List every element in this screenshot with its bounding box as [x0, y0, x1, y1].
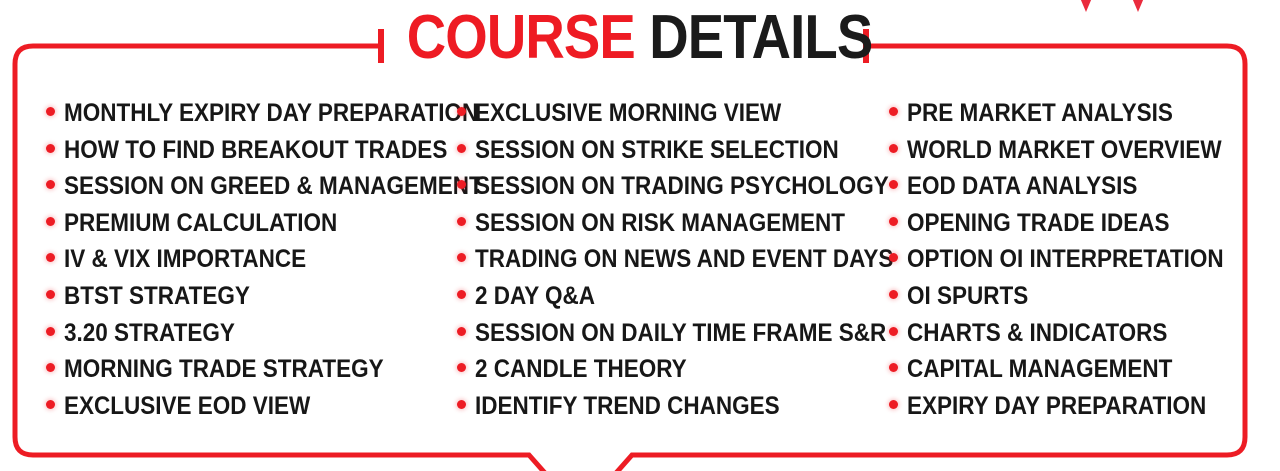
- list-item: OPENING TRADE IDEAS: [889, 209, 1280, 246]
- list-item-label: EXCLUSIVE EOD VIEW: [64, 392, 310, 421]
- list-item-label: SESSION ON RISK MANAGEMENT: [475, 209, 845, 238]
- list-item-label: EOD DATA ANALYSIS: [907, 172, 1137, 201]
- bullet-icon: [457, 400, 466, 409]
- course-details-columns: MONTHLY EXPIRY DAY PREPARATION HOW TO FI…: [0, 99, 1280, 439]
- list-item: OPTION OI INTERPRETATION: [889, 245, 1280, 282]
- page-title-word-black-text: DETAILS: [650, 3, 873, 72]
- bullet-icon: [457, 363, 466, 372]
- bullet-icon: [889, 363, 898, 372]
- column-1: MONTHLY EXPIRY DAY PREPARATION HOW TO FI…: [0, 99, 446, 428]
- bullet-icon: [46, 180, 55, 189]
- list-item-label: 3.20 STRATEGY: [64, 319, 235, 348]
- bullet-icon: [457, 180, 466, 189]
- list-item-label: OPTION OI INTERPRETATION: [907, 245, 1224, 274]
- bullet-icon: [46, 107, 55, 116]
- list-item-label: OI SPURTS: [907, 282, 1028, 311]
- page-title-word-black: [635, 3, 649, 72]
- list-item-label: 2 CANDLE THEORY: [475, 355, 687, 384]
- list-item: EXCLUSIVE MORNING VIEW: [457, 99, 882, 136]
- list-item: SESSION ON GREED & MANAGEMENT: [46, 172, 446, 209]
- list-item: PREMIUM CALCULATION: [46, 209, 446, 246]
- bullet-icon: [889, 327, 898, 336]
- bullet-icon: [457, 144, 466, 153]
- list-item: CHARTS & INDICATORS: [889, 319, 1280, 356]
- list-item-label: MONTHLY EXPIRY DAY PREPARATION: [64, 99, 478, 128]
- bullet-icon: [46, 290, 55, 299]
- list-item: 2 CANDLE THEORY: [457, 355, 882, 392]
- list-item: WORLD MARKET OVERVIEW: [889, 136, 1280, 173]
- list-item-label: WORLD MARKET OVERVIEW: [907, 136, 1222, 165]
- bullet-icon: [46, 144, 55, 153]
- list-item-label: SESSION ON STRIKE SELECTION: [475, 136, 839, 165]
- list-item-label: HOW TO FIND BREAKOUT TRADES: [64, 136, 447, 165]
- list-item-label: PRE MARKET ANALYSIS: [907, 99, 1173, 128]
- bullet-icon: [889, 107, 898, 116]
- list-item-label: SESSION ON DAILY TIME FRAME S&R: [475, 319, 886, 348]
- page-title-word-red: COURSE: [407, 3, 635, 72]
- list-item-label: SESSION ON TRADING PSYCHOLOGY: [475, 172, 889, 201]
- list-item: OI SPURTS: [889, 282, 1280, 319]
- list-item: EXCLUSIVE EOD VIEW: [46, 392, 446, 429]
- list-item-label: IV & VIX IMPORTANCE: [64, 245, 306, 274]
- list-item-label: EXCLUSIVE MORNING VIEW: [475, 99, 781, 128]
- bullet-icon: [46, 363, 55, 372]
- list-item: IV & VIX IMPORTANCE: [46, 245, 446, 282]
- bullet-icon: [889, 253, 898, 262]
- list-item-label: IDENTIFY TREND CHANGES: [475, 392, 780, 421]
- list-item: EOD DATA ANALYSIS: [889, 172, 1280, 209]
- bullet-icon: [889, 144, 898, 153]
- bullet-icon: [46, 253, 55, 262]
- list-item-label: BTST STRATEGY: [64, 282, 250, 311]
- list-item: SESSION ON DAILY TIME FRAME S&R: [457, 319, 882, 356]
- bullet-icon: [457, 107, 466, 116]
- list-item-label: CHARTS & INDICATORS: [907, 319, 1167, 348]
- list-item: 3.20 STRATEGY: [46, 319, 446, 356]
- list-item: MONTHLY EXPIRY DAY PREPARATION: [46, 99, 446, 136]
- bullet-icon: [889, 217, 898, 226]
- list-item: 2 DAY Q&A: [457, 282, 882, 319]
- bullet-icon: [457, 290, 466, 299]
- bullet-icon: [46, 217, 55, 226]
- page-title: COURSE DETAILS: [0, 3, 1280, 73]
- list-item-label: CAPITAL MANAGEMENT: [907, 355, 1172, 384]
- column-2: EXCLUSIVE MORNING VIEW SESSION ON STRIKE…: [446, 99, 882, 428]
- bullet-icon: [889, 180, 898, 189]
- list-item: CAPITAL MANAGEMENT: [889, 355, 1280, 392]
- list-item: SESSION ON STRIKE SELECTION: [457, 136, 882, 173]
- list-item-label: PREMIUM CALCULATION: [64, 209, 337, 238]
- bullet-icon: [457, 327, 466, 336]
- list-item-label: EXPIRY DAY PREPARATION: [907, 392, 1206, 421]
- list-item-label: 2 DAY Q&A: [475, 282, 595, 311]
- bullet-icon: [457, 217, 466, 226]
- list-item: MORNING TRADE STRATEGY: [46, 355, 446, 392]
- list-item: SESSION ON RISK MANAGEMENT: [457, 209, 882, 246]
- list-item: IDENTIFY TREND CHANGES: [457, 392, 882, 429]
- list-item: BTST STRATEGY: [46, 282, 446, 319]
- bullet-icon: [457, 253, 466, 262]
- bullet-icon: [889, 400, 898, 409]
- page-title-text: COURSE DETAILS: [407, 3, 873, 73]
- course-details-poster: COURSE DETAILS MONTHLY EXPIRY DAY PREPAR…: [0, 0, 1280, 471]
- column-3: PRE MARKET ANALYSIS WORLD MARKET OVERVIE…: [882, 99, 1280, 428]
- list-item: PRE MARKET ANALYSIS: [889, 99, 1280, 136]
- list-item: SESSION ON TRADING PSYCHOLOGY: [457, 172, 882, 209]
- list-item: EXPIRY DAY PREPARATION: [889, 392, 1280, 429]
- list-item: TRADING ON NEWS AND EVENT DAYS: [457, 245, 882, 282]
- bullet-icon: [46, 327, 55, 336]
- bullet-icon: [889, 290, 898, 299]
- list-item-label: MORNING TRADE STRATEGY: [64, 355, 384, 384]
- list-item-label: TRADING ON NEWS AND EVENT DAYS: [475, 245, 893, 274]
- bullet-icon: [46, 400, 55, 409]
- list-item-label: SESSION ON GREED & MANAGEMENT: [64, 172, 483, 201]
- list-item: HOW TO FIND BREAKOUT TRADES: [46, 136, 446, 173]
- list-item-label: OPENING TRADE IDEAS: [907, 209, 1170, 238]
